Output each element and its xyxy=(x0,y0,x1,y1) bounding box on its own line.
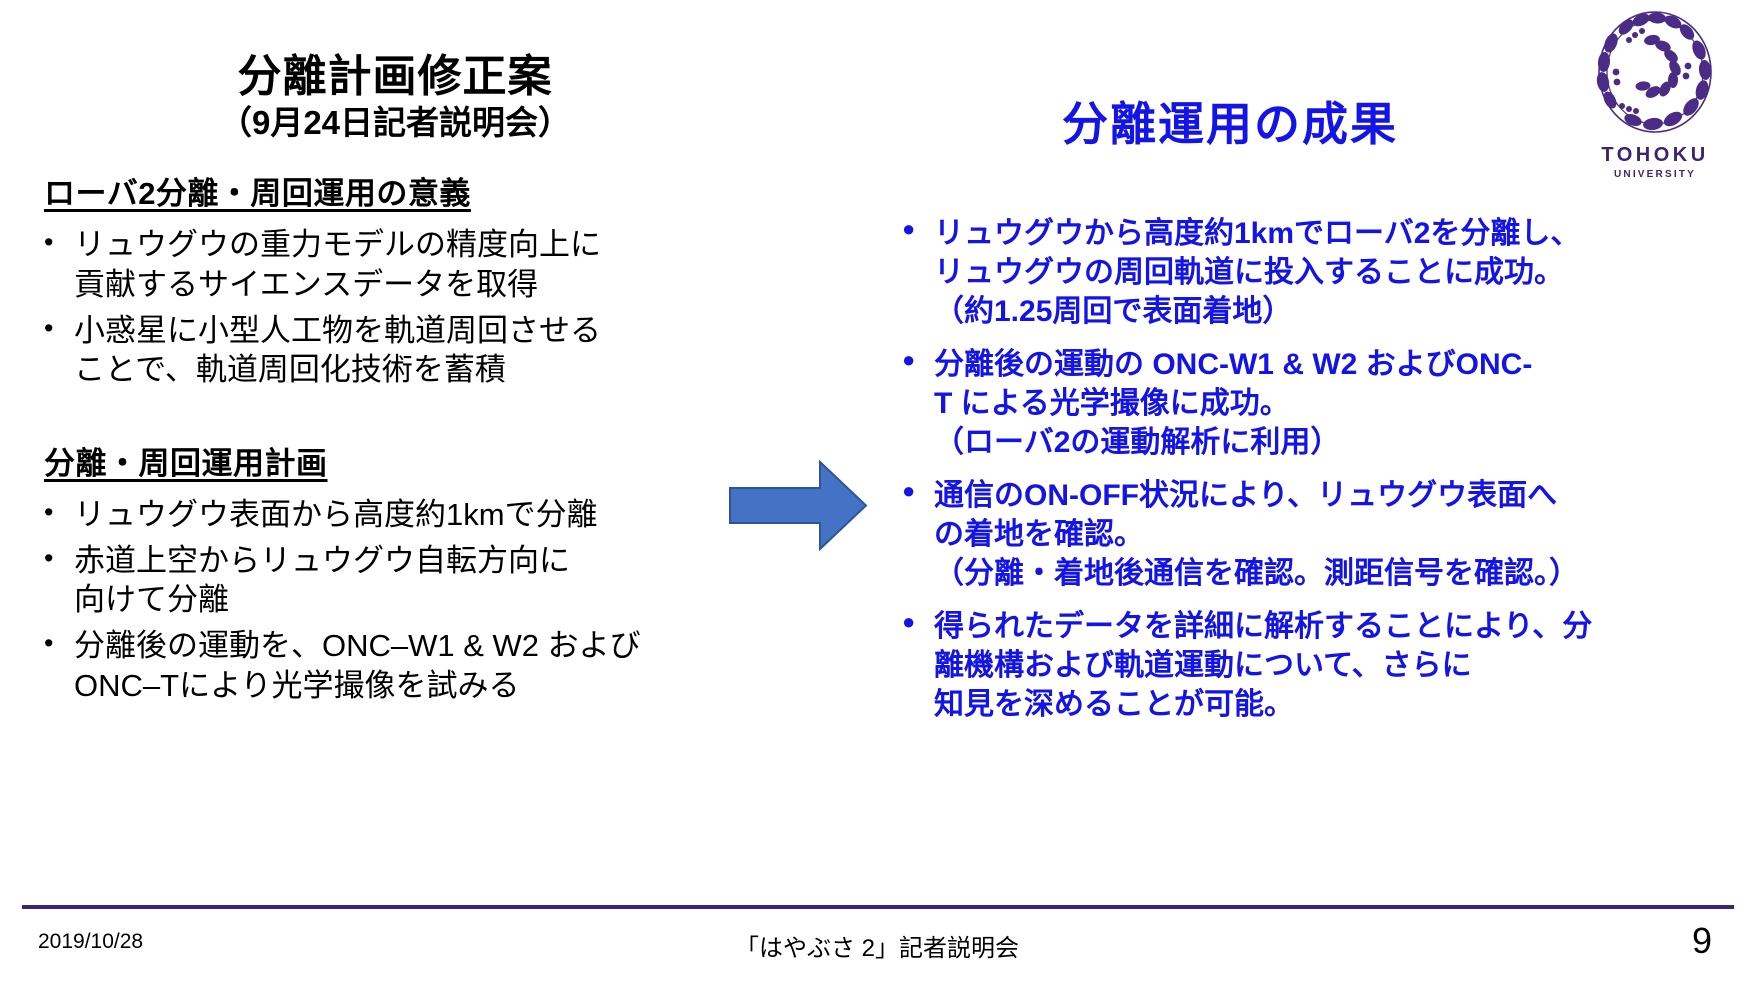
list-item-line: リュウグウ表面から高度約1kmで分離 xyxy=(74,495,790,535)
left-body: ローバ2分離・周回運用の意義 • リュウグウの重力モデルの精度向上に 貢献するサ… xyxy=(0,168,790,705)
list-item-line: （約1.25周回で表面着地） xyxy=(934,292,1754,331)
tohoku-university-logo: TOHOKU UNIVERSITY xyxy=(1580,10,1730,200)
list-item-line: 通信のON-OFF状況により、リュウグウ表面へ xyxy=(934,476,1754,515)
list-item-text: 得られたデータを詳細に解析することにより、分 離機構および軌道運動について、さら… xyxy=(934,607,1754,724)
left-column: 分離計画修正案 （9月24日記者説明会） ローバ2分離・周回運用の意義 • リュ… xyxy=(0,0,790,830)
list-item-text: 通信のON-OFF状況により、リュウグウ表面へ の着地を確認。 （分離・着地後通… xyxy=(934,476,1754,593)
list-item-text: リュウグウの重力モデルの精度向上に 貢献するサイエンスデータを取得 xyxy=(74,225,790,304)
bullet-disc-icon: ● xyxy=(902,345,934,375)
bullet-dot-icon: • xyxy=(44,541,74,576)
left-section1: ローバ2分離・周回運用の意義 xyxy=(44,168,790,219)
slide-root: 分離計画修正案 （9月24日記者説明会） ローバ2分離・周回運用の意義 • リュ… xyxy=(0,0,1754,988)
bullet-disc-icon: ● xyxy=(902,214,934,244)
list-item-line: の着地を確認。 xyxy=(934,515,1754,554)
bullet-dot-icon: • xyxy=(44,495,74,530)
list-item-line: 赤道上空からリュウグウ自転方向に xyxy=(74,541,790,581)
list-item-line: 分離後の運動を、ONC–W1 & W2 および xyxy=(74,626,790,666)
list-item: ● 分離後の運動の ONC-W1 & W2 およびONC- T による光学撮像に… xyxy=(902,345,1754,462)
right-column: 分離運用の成果 xyxy=(880,0,1754,830)
right-title: 分離運用の成果 xyxy=(880,88,1580,154)
list-item-line: （ローバ2の運動解析に利用） xyxy=(934,423,1754,462)
right-arrow-shape xyxy=(728,458,868,553)
list-item-line: 分離後の運動の ONC-W1 & W2 およびONC- xyxy=(934,345,1754,384)
footer: 2019/10/28 「はやぶさ 2」記者説明会 9 xyxy=(0,920,1754,980)
logo-name: TOHOKU xyxy=(1580,144,1730,167)
tohoku-university-crest-icon xyxy=(1589,10,1721,142)
list-item-text: 赤道上空からリュウグウ自転方向に 向けて分離 xyxy=(74,541,790,620)
list-item-line: 得られたデータを詳細に解析することにより、分 xyxy=(934,607,1754,646)
list-item: • 分離後の運動を、ONC–W1 & W2 および ONC–Tにより光学撮像を試… xyxy=(44,626,790,705)
list-item-line: ことで、軌道周回化技術を蓄積 xyxy=(74,350,790,390)
page-number: 9 xyxy=(1692,920,1712,962)
list-item-text: リュウグウ表面から高度約1kmで分離 xyxy=(74,495,790,535)
right-body: ● リュウグウから高度約1kmでローバ2を分離し、 リュウグウの周回軌道に投入す… xyxy=(902,214,1754,738)
list-item-text: リュウグウから高度約1kmでローバ2を分離し、 リュウグウの周回軌道に投入するこ… xyxy=(934,214,1754,331)
list-item-text: 分離後の運動を、ONC–W1 & W2 および ONC–Tにより光学撮像を試みる xyxy=(74,626,790,705)
bullet-dot-icon: • xyxy=(44,225,74,260)
list-item-line: 貢献するサイエンスデータを取得 xyxy=(74,265,790,305)
bullet-dot-icon: • xyxy=(44,311,74,346)
list-item-line: 向けて分離 xyxy=(74,580,790,620)
list-item: • 赤道上空からリュウグウ自転方向に 向けて分離 xyxy=(44,541,790,620)
logo-subtitle: UNIVERSITY xyxy=(1580,169,1730,180)
footer-divider xyxy=(22,905,1734,909)
left-title-line2: （9月24日記者説明会） xyxy=(0,105,790,142)
list-item-text: 分離後の運動の ONC-W1 & W2 およびONC- T による光学撮像に成功… xyxy=(934,345,1754,462)
list-item: • リュウグウ表面から高度約1kmで分離 xyxy=(44,495,790,535)
footer-title: 「はやぶさ 2」記者説明会 xyxy=(0,928,1754,963)
bullet-disc-icon: ● xyxy=(902,607,934,637)
list-item-line: 知見を深めることが可能。 xyxy=(934,685,1754,724)
list-item-line: T による光学撮像に成功。 xyxy=(934,384,1754,423)
list-item-line: （分離・着地後通信を確認。測距信号を確認。） xyxy=(934,554,1754,593)
list-item: • 小惑星に小型人工物を軌道周回させる ことで、軌道周回化技術を蓄積 xyxy=(44,311,790,390)
bullet-disc-icon: ● xyxy=(902,476,934,506)
list-item-line: ONC–Tにより光学撮像を試みる xyxy=(74,666,790,706)
section-spacer xyxy=(44,396,790,438)
left-section1-heading: ローバ2分離・周回運用の意義 xyxy=(44,168,471,213)
list-item: ● リュウグウから高度約1kmでローバ2を分離し、 リュウグウの周回軌道に投入す… xyxy=(902,214,1754,331)
left-title-line1: 分離計画修正案 xyxy=(0,52,790,101)
right-arrow-icon xyxy=(728,458,868,553)
list-item: ● 通信のON-OFF状況により、リュウグウ表面へ の着地を確認。 （分離・着地… xyxy=(902,476,1754,593)
list-item-line: 小惑星に小型人工物を軌道周回させる xyxy=(74,311,790,351)
list-item-text: 小惑星に小型人工物を軌道周回させる ことで、軌道周回化技術を蓄積 xyxy=(74,311,790,390)
list-item-line: リュウグウの周回軌道に投入することに成功。 xyxy=(934,253,1754,292)
list-item: • リュウグウの重力モデルの精度向上に 貢献するサイエンスデータを取得 xyxy=(44,225,790,304)
left-section2: 分離・周回運用計画 xyxy=(44,438,790,489)
list-item-line: 離機構および軌道運動について、さらに xyxy=(934,646,1754,685)
list-item-line: リュウグウから高度約1kmでローバ2を分離し、 xyxy=(934,214,1754,253)
left-section2-heading: 分離・周回運用計画 xyxy=(44,438,328,483)
bullet-dot-icon: • xyxy=(44,626,74,661)
list-item: ● 得られたデータを詳細に解析することにより、分 離機構および軌道運動について、… xyxy=(902,607,1754,724)
list-item-line: リュウグウの重力モデルの精度向上に xyxy=(74,225,790,265)
left-title: 分離計画修正案 （9月24日記者説明会） xyxy=(0,0,790,142)
